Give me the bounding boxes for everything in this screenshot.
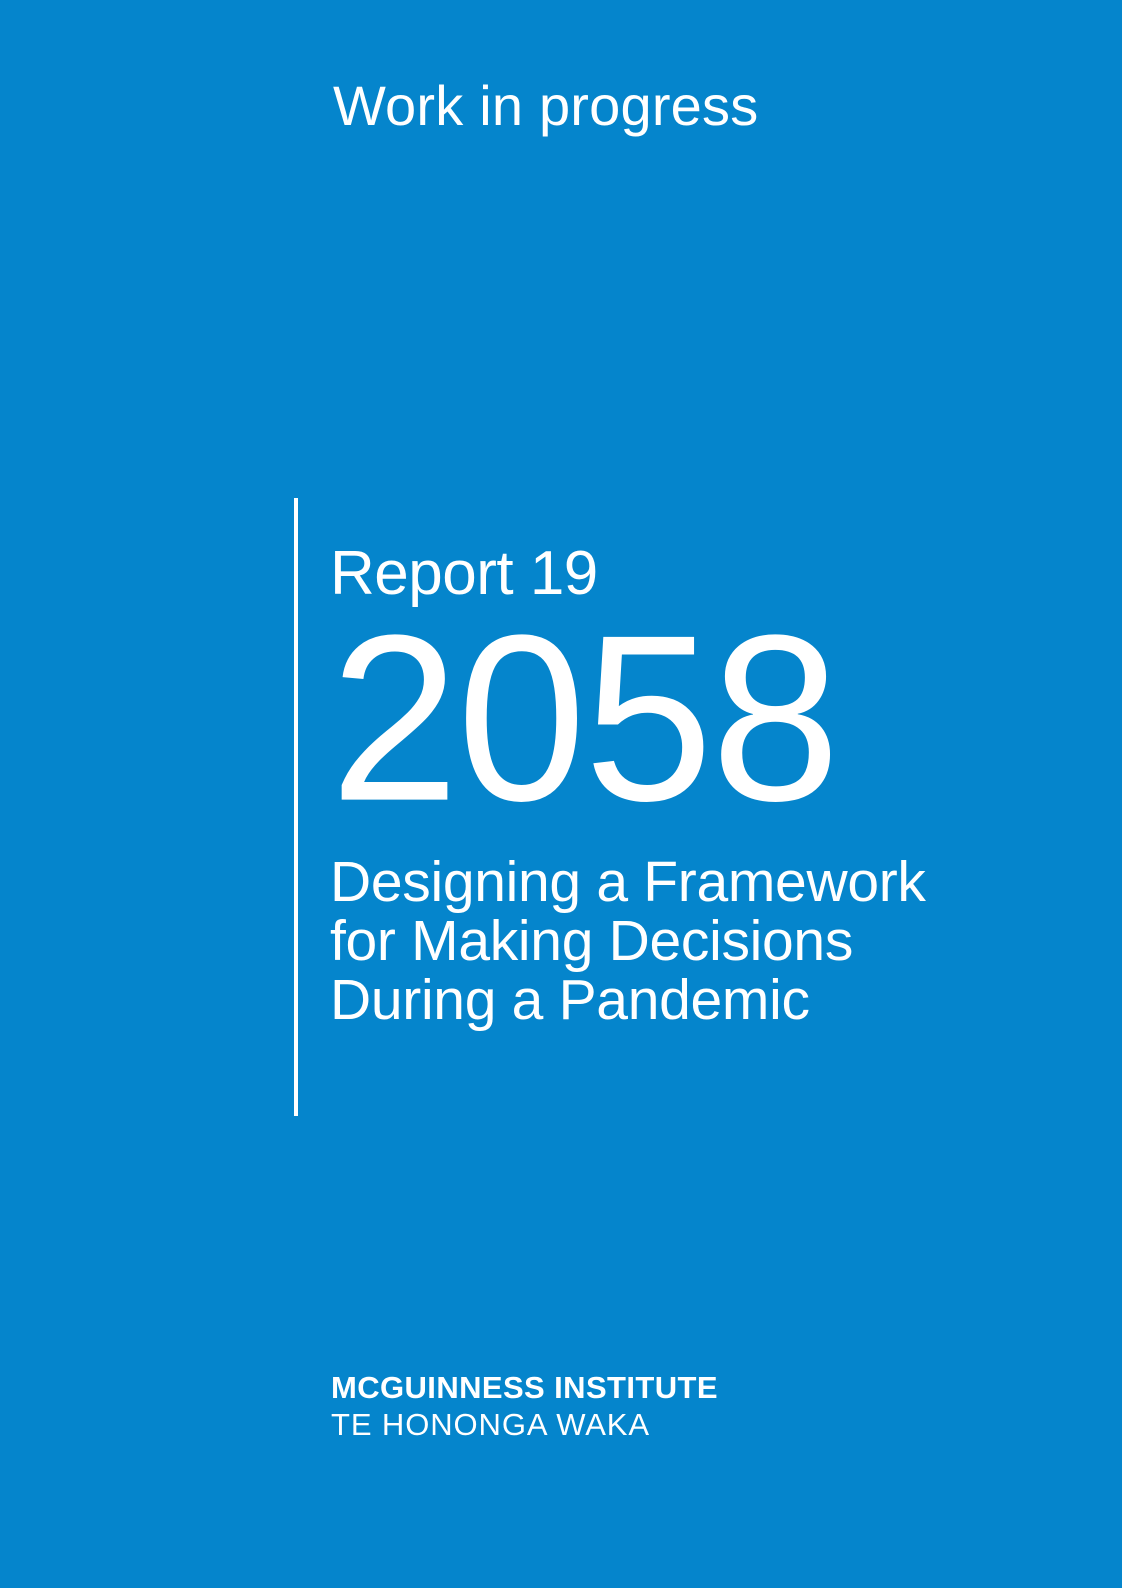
report-year: 2058 [330, 613, 990, 825]
subtitle-line-1: Designing a Framework [330, 853, 990, 912]
subtitle-line-2: for Making Decisions [330, 912, 990, 971]
publisher-logo: MCGUINNESS INSTITUTE TE HONONGA WAKA [331, 1370, 831, 1443]
vertical-rule [294, 498, 298, 1116]
status-label: Work in progress [333, 72, 758, 140]
report-cover: Work in progress Report 19 2058 Designin… [0, 0, 1122, 1588]
logo-secondary-text: TE HONONGA WAKA [331, 1406, 831, 1443]
subtitle-line-3: During a Pandemic [330, 971, 990, 1030]
title-block: Report 19 2058 Designing a Framework for… [294, 498, 994, 1116]
logo-primary-text: MCGUINNESS INSTITUTE [331, 1370, 831, 1406]
title-text-group: Report 19 2058 Designing a Framework for… [330, 498, 990, 1030]
report-subtitle: Designing a Framework for Making Decisio… [330, 853, 990, 1030]
